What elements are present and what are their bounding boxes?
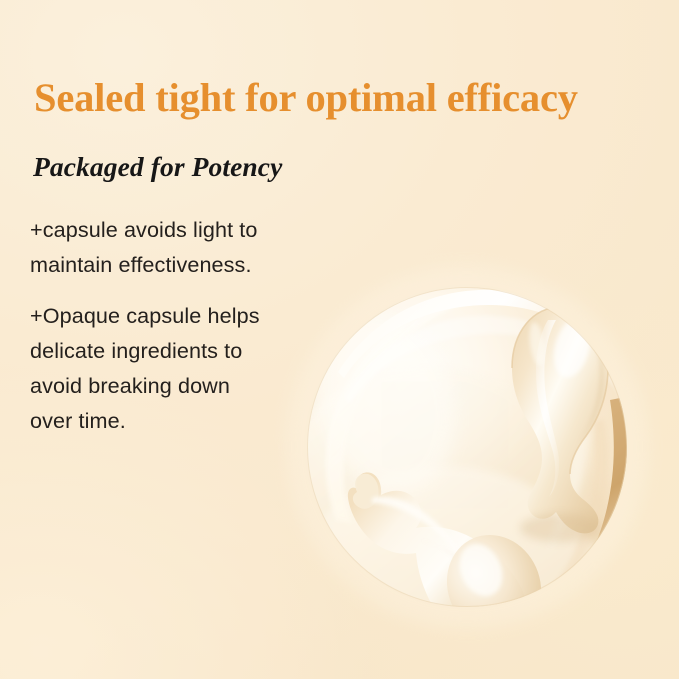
poster-canvas: Sealed tight for optimal efficacy Packag… bbox=[0, 0, 679, 679]
benefit-line: over time. bbox=[30, 403, 360, 438]
subheading: Packaged for Potency bbox=[33, 153, 282, 181]
benefit-line: avoid breaking down bbox=[30, 368, 360, 403]
benefit-line: +capsule avoids light to bbox=[30, 212, 360, 247]
benefit-paragraph-1: +capsule avoids light to maintain effect… bbox=[30, 212, 360, 282]
benefit-line: delicate ingredients to bbox=[30, 333, 360, 368]
benefit-line: maintain effectiveness. bbox=[30, 247, 360, 282]
page-title: Sealed tight for optimal efficacy bbox=[34, 78, 578, 119]
benefit-line: +Opaque capsule helps bbox=[30, 298, 360, 333]
capsule-contact-shadow bbox=[520, 514, 600, 542]
benefit-paragraph-2: +Opaque capsule helps delicate ingredien… bbox=[30, 298, 360, 438]
